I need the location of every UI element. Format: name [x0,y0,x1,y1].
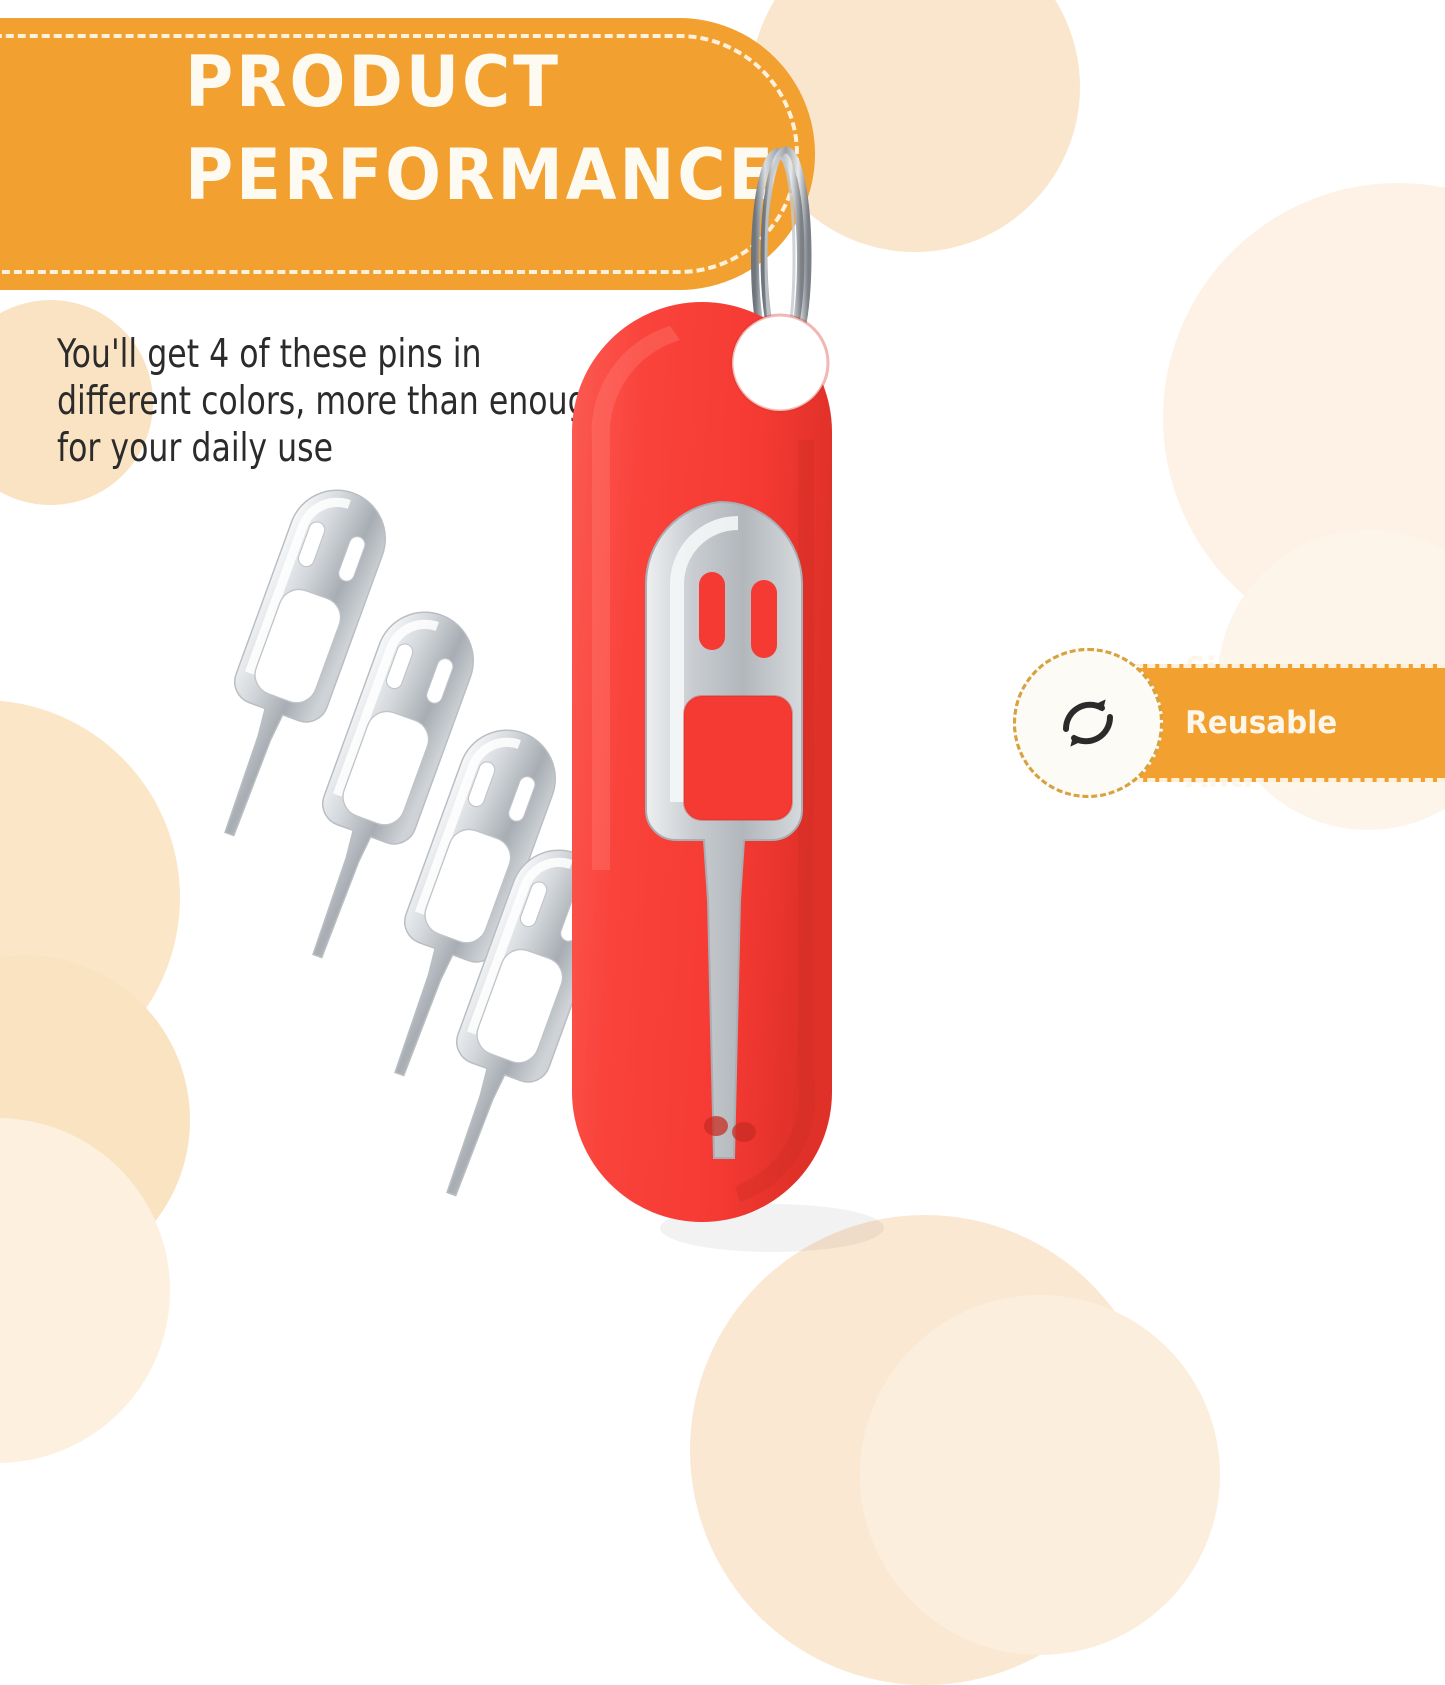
case-vent-hole-left [704,1116,728,1136]
product-keychain [530,110,1000,1290]
feature-list: High Quality Material Silicone Protectiv… [1003,648,1445,1388]
feature-item-reusable[interactable]: Reusable [1003,648,1445,798]
case-vent-hole-right [732,1122,756,1142]
refresh-cycle-icon [1049,684,1127,762]
feature-icon-circle [1013,648,1163,798]
